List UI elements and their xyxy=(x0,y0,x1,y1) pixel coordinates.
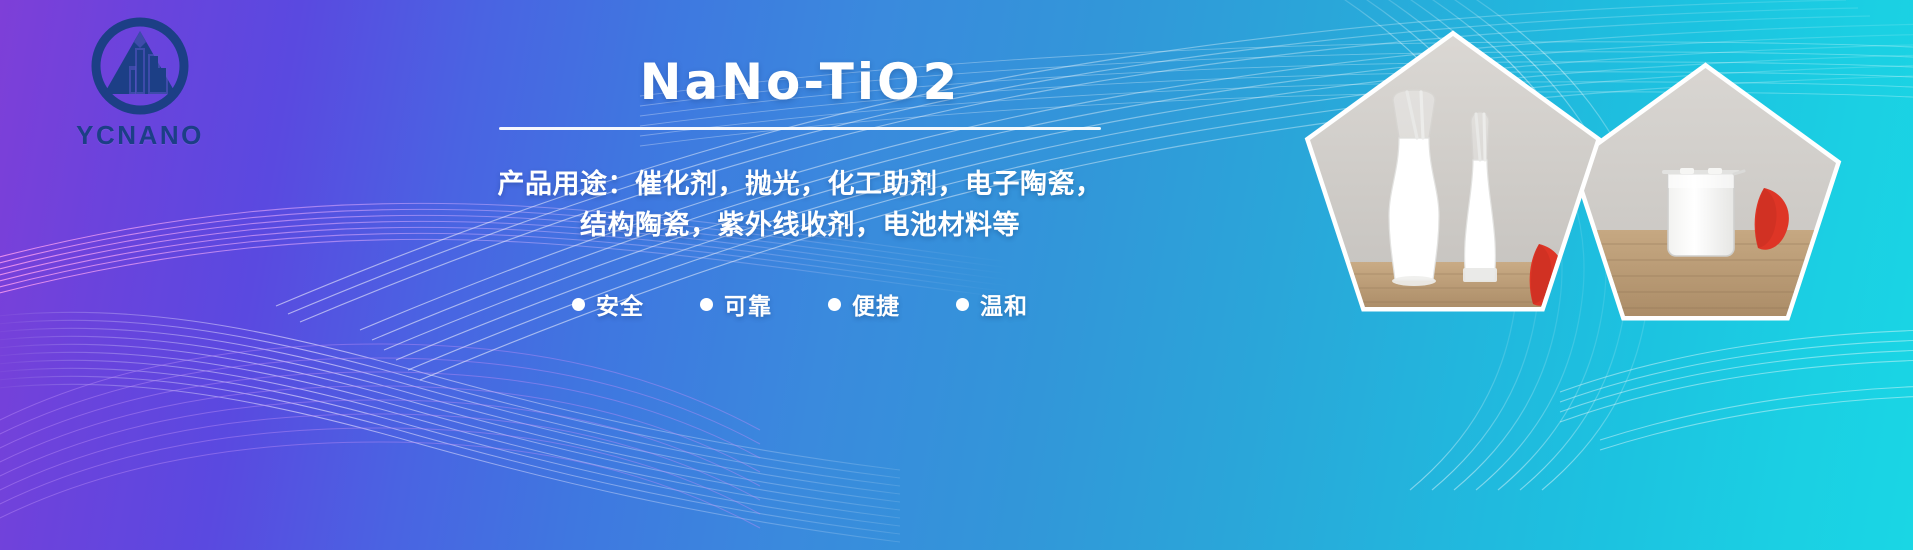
bullet-dot-icon xyxy=(572,298,585,311)
product-photo-vases[interactable] xyxy=(1303,30,1603,315)
feature-label: 安全 xyxy=(596,287,644,321)
product-description: 产品用途：催化剂，抛光，化工助剂，电子陶瓷， 结构陶瓷，紫外线收剂，电池材料等 xyxy=(480,164,1120,248)
feature-item-safe: 安全 xyxy=(572,287,644,321)
ycnano-triangle-logo-icon xyxy=(88,14,192,118)
hero-content: NaNo-TiO2 产品用途：催化剂，抛光，化工助剂，电子陶瓷， 结构陶瓷，紫外… xyxy=(480,56,1120,321)
feature-list: 安全 可靠 便捷 温和 xyxy=(480,287,1120,321)
feature-label: 可靠 xyxy=(724,287,772,321)
feature-label: 便捷 xyxy=(852,287,900,321)
bullet-dot-icon xyxy=(956,298,969,311)
description-line-1: 产品用途：催化剂，抛光，化工助剂，电子陶瓷， xyxy=(480,164,1120,206)
feature-item-mild: 温和 xyxy=(956,287,1028,321)
page-title: NaNo-TiO2 xyxy=(480,56,1120,109)
feature-item-reliable: 可靠 xyxy=(700,287,772,321)
product-photo-vases-svg xyxy=(1303,30,1603,315)
bullet-dot-icon xyxy=(828,298,841,311)
title-divider xyxy=(499,127,1101,130)
description-line-2: 结构陶瓷，紫外线收剂，电池材料等 xyxy=(480,205,1120,247)
product-photo-group xyxy=(1293,0,1913,550)
feature-label: 温和 xyxy=(980,287,1028,321)
brand-logo[interactable]: YCNANO xyxy=(40,14,240,174)
product-banner: YCNANO NaNo-TiO2 产品用途：催化剂，抛光，化工助剂，电子陶瓷， … xyxy=(0,0,1913,550)
feature-item-convenient: 便捷 xyxy=(828,287,900,321)
product-photo-beaker[interactable] xyxy=(1568,62,1843,324)
brand-wordmark: YCNANO xyxy=(40,120,240,151)
bullet-dot-icon xyxy=(700,298,713,311)
product-photo-beaker-svg xyxy=(1568,62,1843,324)
